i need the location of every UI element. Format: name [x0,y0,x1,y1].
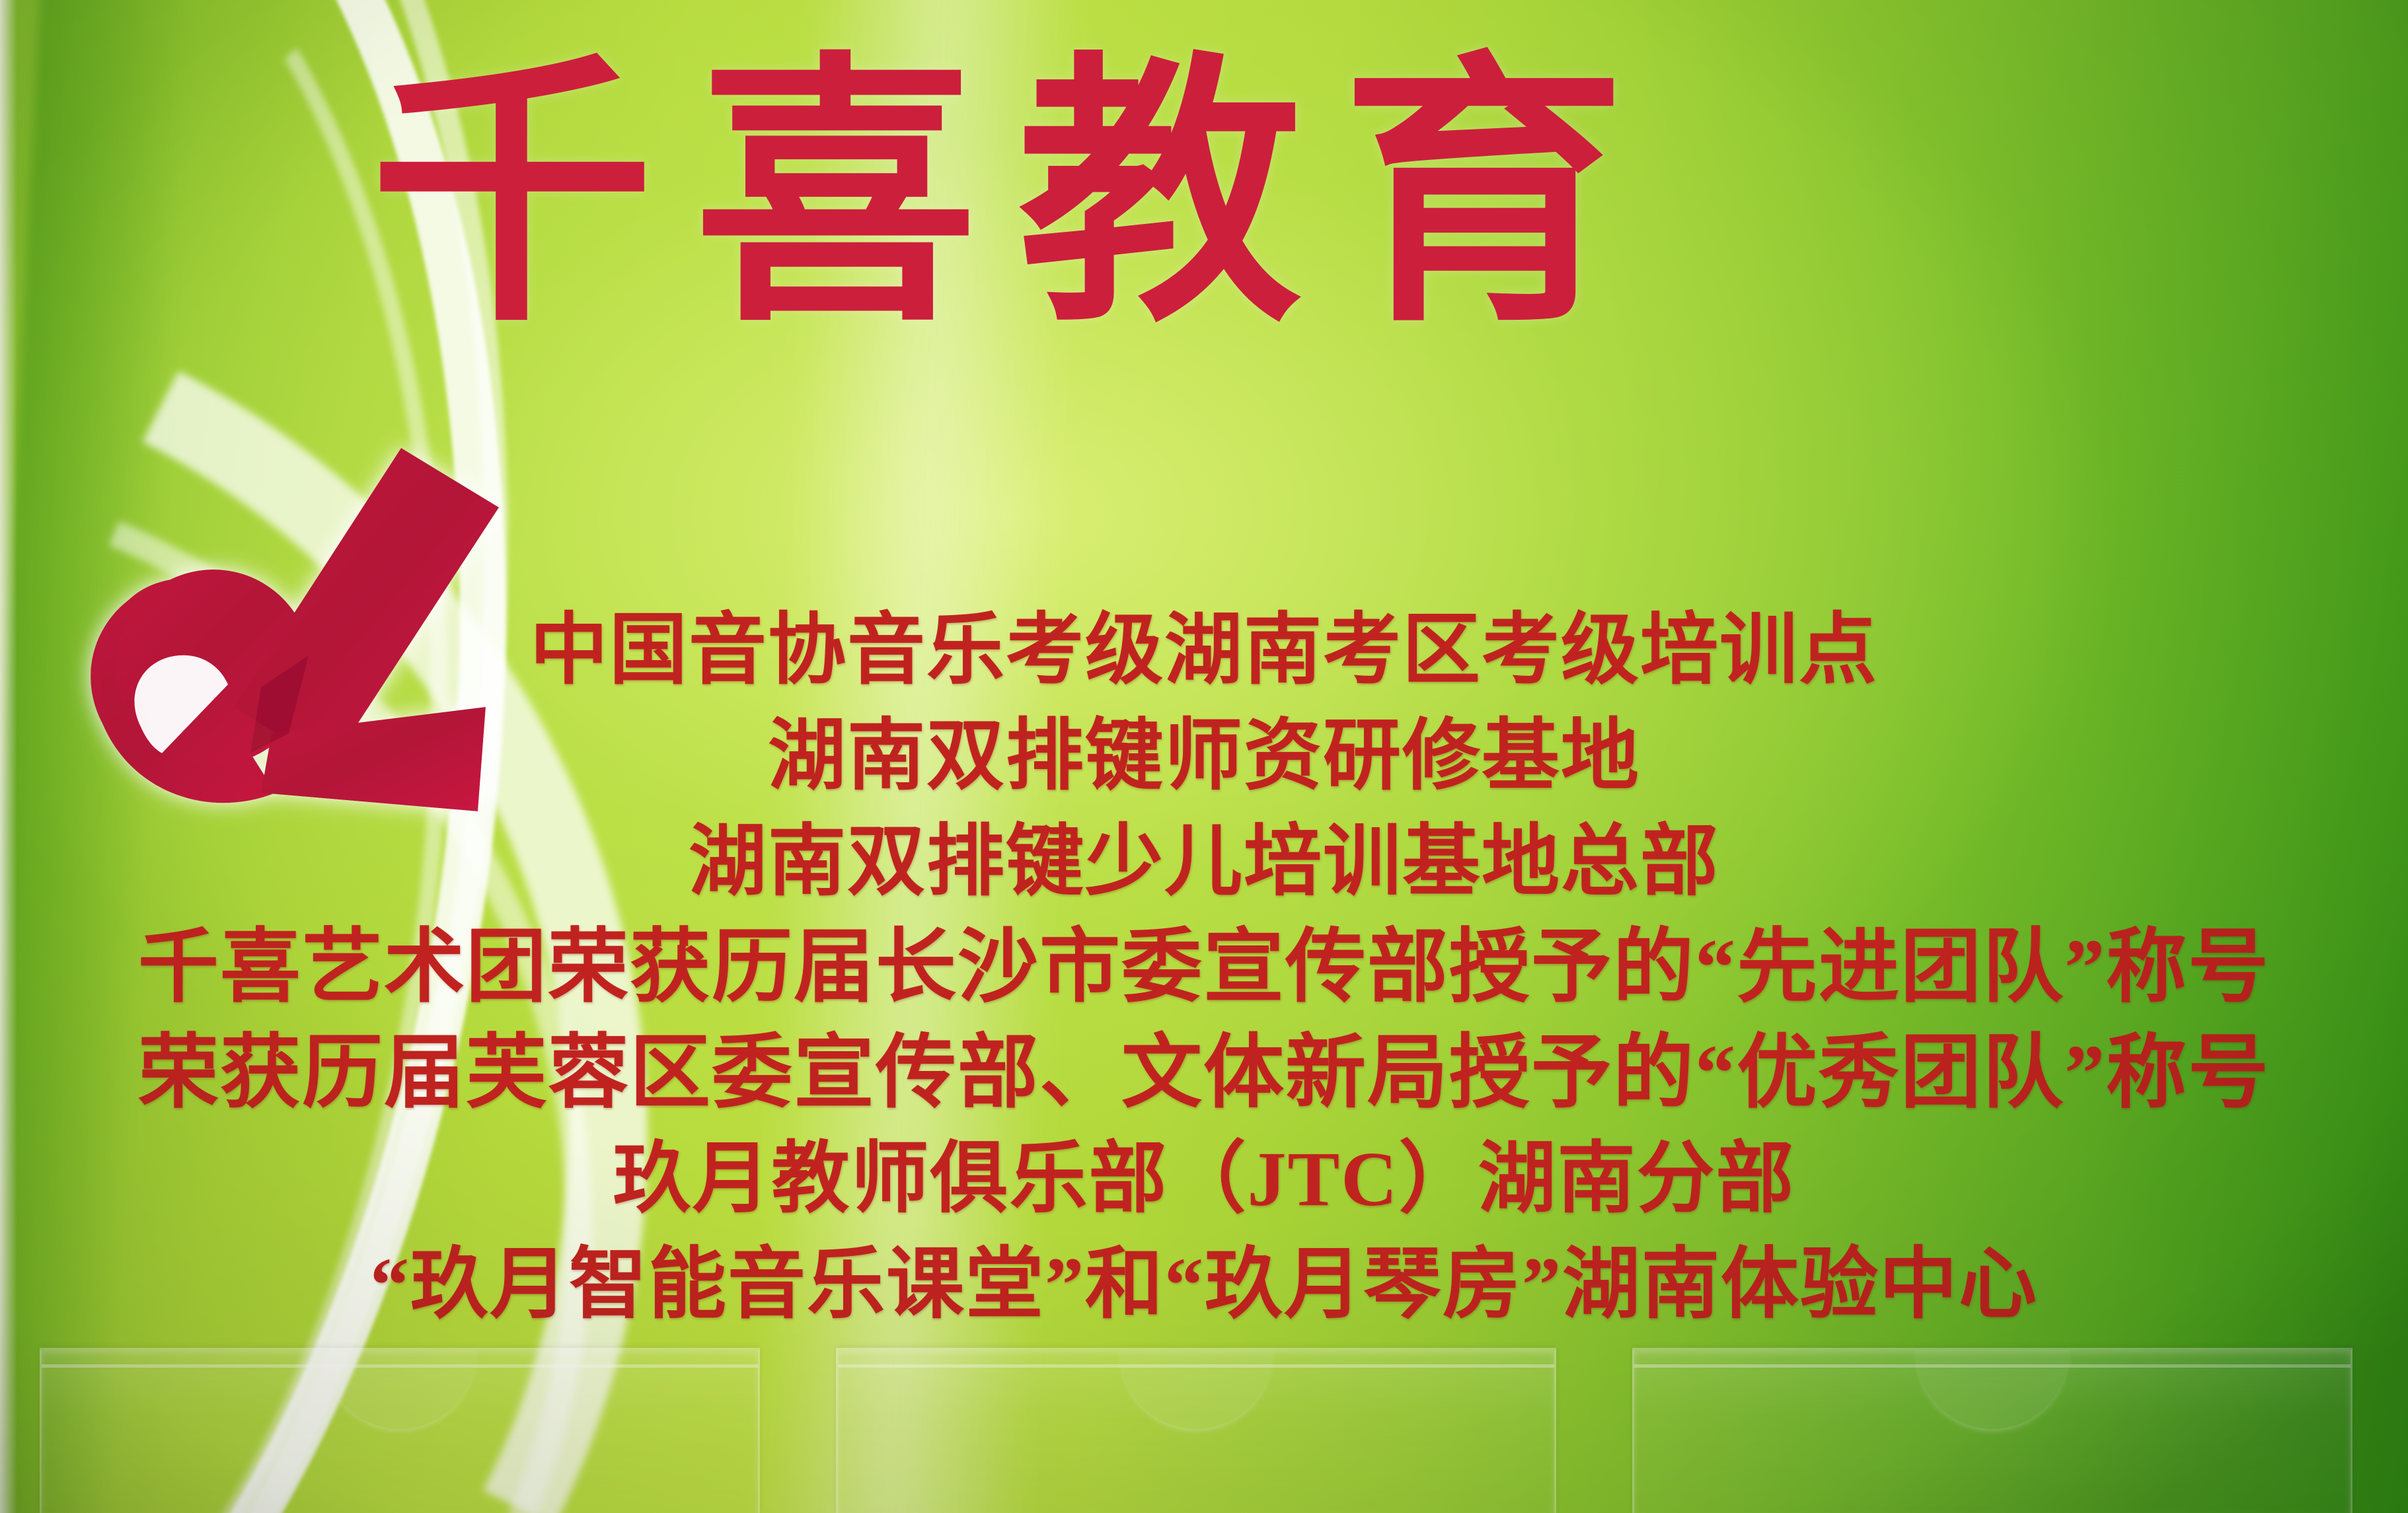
credential-line: 湖南双排键师资研修基地 [0,704,2408,809]
credential-line: “玖月智能音乐课堂”和“玖月琴房”湖南体验中心 [0,1232,2408,1338]
holder-notch [1120,1348,1272,1429]
holder-notch [1916,1348,2068,1429]
leaflet-holder[interactable] [836,1348,1556,1513]
credential-line: 中国音协音乐考级湖南考区考级培训点 [0,598,2408,704]
wall-sign-board: 千喜教育 [0,0,2408,1513]
credential-line: 玖月教师俱乐部（JTC）湖南分部 [0,1126,2408,1232]
wall-left-edge [0,0,17,1513]
credential-line: 荣获历届芙蓉区委宣传部、文体新局授予的“优秀团队”称号 [0,1021,2408,1126]
holder-notch [324,1348,476,1429]
page-title: 千喜教育 [370,48,2088,349]
leaflet-holder[interactable] [1632,1348,2352,1513]
leaflet-holder[interactable] [40,1348,760,1513]
credential-line: 湖南双排键少儿培训基地总部 [0,809,2408,915]
credential-line: 千喜艺术团荣获历届长沙市委宣传部授予的“先进团队”称号 [0,915,2408,1021]
credential-list: 中国音协音乐考级湖南考区考级培训点 湖南双排键师资研修基地 湖南双排键少儿培训基… [0,598,2408,1338]
